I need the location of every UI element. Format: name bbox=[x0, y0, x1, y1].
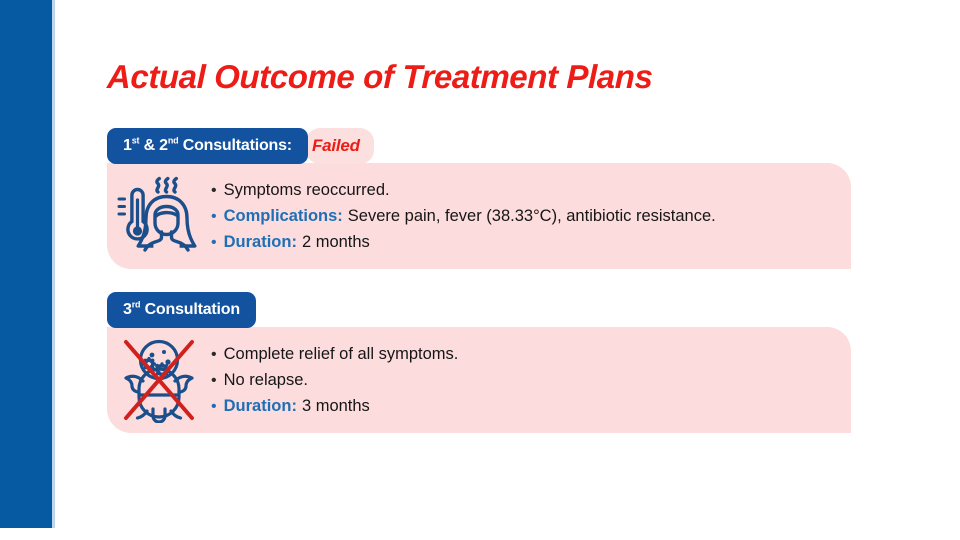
badge-first-and-second-consultations-label: 1st & 2nd Consultations: bbox=[123, 137, 292, 155]
card-first-and-second-consultations: • Symptoms reoccurred. • Complications: … bbox=[107, 163, 851, 269]
list-item: • Duration: 2 months bbox=[211, 234, 837, 251]
card-third-consultation: • Complete relief of all symptoms. • No … bbox=[107, 327, 851, 433]
slide-accent-bar bbox=[0, 0, 52, 528]
bullet-label: Complications: bbox=[224, 208, 343, 225]
bullet-dot-icon: • bbox=[211, 235, 217, 251]
bullet-dot-icon: • bbox=[211, 347, 217, 363]
badge-third-consultation[interactable]: 3rd Consultation bbox=[107, 292, 256, 328]
badge-word-consultation: Consultation bbox=[145, 301, 240, 318]
status-badge-failed: Failed bbox=[306, 128, 374, 164]
badge-conjunction: & bbox=[144, 137, 155, 154]
bullet-text: No relapse. bbox=[224, 372, 308, 389]
bullet-label: Duration: bbox=[224, 398, 297, 415]
ordinal-suffix-3: rd bbox=[132, 300, 141, 310]
badge-first-and-second-consultations[interactable]: 1st & 2nd Consultations: bbox=[107, 128, 308, 164]
bullet-text: 2 months bbox=[302, 234, 370, 251]
badge-row-first: 1st & 2nd Consultations: Failed bbox=[107, 128, 851, 164]
section-first-and-second-consultations: 1st & 2nd Consultations: Failed bbox=[107, 128, 851, 269]
list-item: • Complications: Severe pain, fever (38.… bbox=[211, 208, 837, 225]
card-third-bullets: • Complete relief of all symptoms. • No … bbox=[211, 346, 851, 415]
slide-accent-bar-edge bbox=[52, 0, 55, 528]
card-first-bullets: • Symptoms reoccurred. • Complications: … bbox=[211, 182, 851, 251]
list-item: • Duration: 3 months bbox=[211, 398, 837, 415]
bullet-dot-icon: • bbox=[211, 209, 217, 225]
bullet-text: 3 months bbox=[302, 398, 370, 415]
bullet-text: Complete relief of all symptoms. bbox=[224, 346, 459, 363]
status-badge-failed-label: Failed bbox=[312, 136, 360, 156]
list-item: • Complete relief of all symptoms. bbox=[211, 346, 837, 363]
no-virus-crossed-out-icon bbox=[107, 327, 211, 433]
bullet-text: Severe pain, fever (38.33°C), antibiotic… bbox=[348, 208, 716, 225]
fever-patient-thermometer-icon bbox=[107, 163, 211, 269]
ordinal-number-3: 3 bbox=[123, 301, 132, 318]
section-third-consultation: 3rd Consultation bbox=[107, 292, 851, 433]
page-title: Actual Outcome of Treatment Plans bbox=[107, 58, 653, 96]
bullet-dot-icon: • bbox=[211, 399, 217, 415]
list-item: • Symptoms reoccurred. bbox=[211, 182, 837, 199]
bullet-dot-icon: • bbox=[211, 183, 217, 199]
ordinal-suffix-2: nd bbox=[168, 136, 179, 146]
ordinal-suffix-1: st bbox=[132, 136, 140, 146]
badge-word-consultations: Consultations: bbox=[183, 137, 292, 154]
bullet-text: Symptoms reoccurred. bbox=[224, 182, 390, 199]
list-item: • No relapse. bbox=[211, 372, 837, 389]
ordinal-number-1: 1 bbox=[123, 137, 132, 154]
bullet-dot-icon: • bbox=[211, 373, 217, 389]
badge-third-consultation-label: 3rd Consultation bbox=[123, 301, 240, 319]
badge-row-third: 3rd Consultation bbox=[107, 292, 851, 328]
bullet-label: Duration: bbox=[224, 234, 297, 251]
ordinal-number-2: 2 bbox=[159, 137, 168, 154]
